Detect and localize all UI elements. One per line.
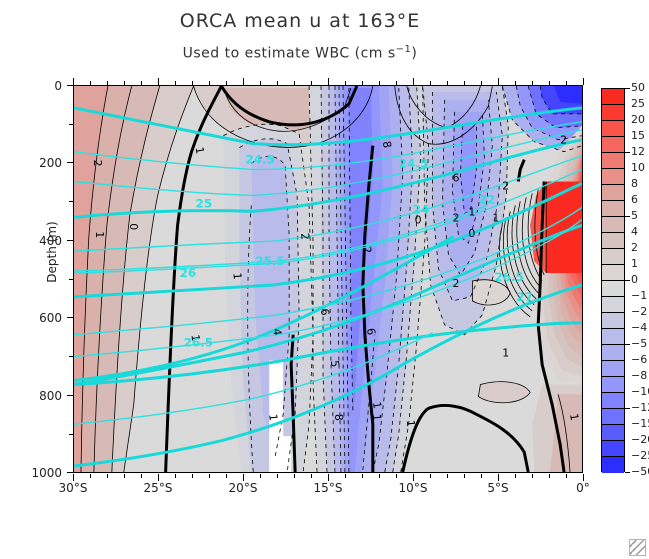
colorbar-tick-label: −1 [631,289,647,302]
x-tick-minor [549,474,550,478]
y-tick-minor [69,279,73,280]
figure-subtitle: Used to estimate WBC (cm s−1) [0,44,600,62]
colorbar-band [602,121,624,137]
colorbar-tick-label: 20 [631,113,645,126]
x-tick-label-0: 0° [553,481,613,495]
x-tick-major-top [583,78,584,85]
colorbar-tick [625,408,630,409]
x-tick-minor [141,474,142,478]
svg-text:2: 2 [453,211,460,224]
x-tick-label-5s: 5°S [468,481,528,495]
colorbar-band [602,441,624,457]
svg-text:1: 1 [266,413,280,421]
x-tick-label-15s: 15°S [298,481,358,495]
colorbar-tick-label: 4 [631,225,638,238]
colorbar-band [602,249,624,265]
x-tick-minor [566,474,567,478]
contour-plot-area: 2 1 0 1 1 2 5 6 8 4 1 8 2 6 1 6 0 [73,85,583,473]
svg-text:2: 2 [298,232,312,240]
svg-text:1: 1 [93,231,106,238]
colorbar-tick-label: −5 [631,337,647,350]
x-tick-minor-top [379,81,380,85]
colorbar-tick-label: 25 [631,97,645,110]
colorbar-tick [625,88,630,89]
x-tick-major [328,474,329,481]
x-tick-minor [447,474,448,478]
x-tick-minor [107,474,108,478]
y-tick-major [67,85,73,86]
x-tick-label-20s: 20°S [213,481,273,495]
y-axis-title: Depth (m) [45,192,59,312]
colorbar-tick [625,152,630,153]
x-tick-minor-top [260,81,261,85]
svg-text:6: 6 [318,308,332,316]
svg-text:6: 6 [453,172,460,185]
x-tick-minor-top [464,81,465,85]
subtitle-tail: ) [411,46,417,62]
y-tick-minor [69,434,73,435]
x-tick-major-top [158,78,159,85]
y-tick-major [67,317,73,318]
colorbar-band [602,409,624,425]
colorbar-tick-label: −6 [631,353,647,366]
svg-text:0: 0 [468,227,475,240]
x-tick-minor-top [107,81,108,85]
svg-text:26: 26 [180,266,197,280]
colorbar-band [602,329,624,345]
colorbar-band [602,313,624,329]
colorbar-band [602,185,624,201]
x-tick-minor [294,474,295,478]
x-tick-major [498,474,499,481]
colorbar-tick-label: 5 [631,209,638,222]
x-tick-minor [464,474,465,478]
y-tick-major [67,472,73,473]
colorbar-tick-label: 50 [631,81,645,94]
colorbar-tick-label: −10 [631,385,649,398]
svg-text:1: 1 [404,419,418,427]
colorbar-tick-label: 15 [631,129,645,142]
svg-text:0: 0 [127,223,140,230]
x-tick-minor-top [141,81,142,85]
x-tick-minor [90,474,91,478]
x-tick-major-top [328,78,329,85]
colorbar [601,88,625,472]
x-tick-minor-top [209,81,210,85]
colorbar-tick-label: 2 [631,241,638,254]
x-tick-major-top [413,78,414,85]
x-tick-minor [277,474,278,478]
colorbar-tick [625,344,630,345]
svg-text:22: 22 [478,192,495,206]
svg-text:27: 27 [516,290,533,304]
svg-text:1: 1 [370,413,384,421]
colorbar-band [602,233,624,249]
page-title: ORCA mean u at 163°E [0,10,600,32]
y-tick-major [67,395,73,396]
colorbar-band [602,105,624,121]
colorbar-band [602,217,624,233]
colorbar-tick-label: 8 [631,177,638,190]
colorbar-band [602,137,624,153]
svg-text:2: 2 [453,277,460,290]
x-tick-minor [311,474,312,478]
x-tick-minor-top [430,81,431,85]
svg-text:24.5: 24.5 [399,157,428,171]
y-tick-minor [69,201,73,202]
svg-text:5: 5 [328,360,342,368]
x-tick-minor-top [345,81,346,85]
colorbar-tick-label: 1 [631,257,638,270]
svg-text:1: 1 [502,347,509,360]
svg-text:24: 24 [413,202,430,216]
x-tick-major [413,474,414,481]
x-tick-minor-top [532,81,533,85]
colorbar-band [602,345,624,361]
colorbar-band [602,153,624,169]
resize-grip-lines [630,540,645,555]
svg-text:2: 2 [560,134,567,147]
x-tick-major-top [73,78,74,85]
x-tick-minor [532,474,533,478]
y-tick-minor [69,124,73,125]
colorbar-band [602,265,624,281]
colorbar-tick-label: −15 [631,417,649,430]
subtitle-text: Used to estimate WBC (cm s [183,46,396,62]
x-tick-minor-top [226,81,227,85]
colorbar-tick-label: −20 [631,433,649,446]
y-tick-label-400: 400 [18,234,62,248]
colorbar-band [602,281,624,297]
colorbar-band [602,425,624,441]
colorbar-band [602,297,624,313]
colorbar-band [602,169,624,185]
resize-grip-handle[interactable] [629,539,646,556]
x-tick-major-top [498,78,499,85]
x-tick-major [158,474,159,481]
x-tick-minor [260,474,261,478]
x-tick-minor-top [362,81,363,85]
colorbar-tick-label: 12 [631,145,645,158]
colorbar-band [602,89,624,105]
x-tick-minor-top [175,81,176,85]
colorbar-tick-label: 0 [631,273,638,286]
y-tick-major [67,240,73,241]
colorbar-tick-label: 6 [631,193,638,206]
x-tick-major [243,474,244,481]
x-tick-major [73,474,74,481]
svg-text:25: 25 [196,196,213,210]
svg-text:24.5: 24.5 [245,153,274,167]
colorbar-tick [625,280,630,281]
x-tick-minor-top [481,81,482,85]
x-tick-label-30s: 30°S [43,481,103,495]
y-tick-minor [69,356,73,357]
x-tick-minor [481,474,482,478]
x-tick-major [583,474,584,481]
figure-canvas: ORCA mean u at 163°E Used to estimate WB… [0,0,649,559]
x-tick-minor [362,474,363,478]
x-tick-label-25s: 25°S [128,481,188,495]
colorbar-tick-label: −2 [631,305,647,318]
x-tick-minor-top [124,81,125,85]
svg-text:2: 2 [91,160,104,167]
svg-text:1: 1 [492,211,499,224]
colorbar-tick-label: −4 [631,321,647,334]
x-tick-minor-top [396,81,397,85]
x-tick-minor [515,474,516,478]
x-tick-minor [379,474,380,478]
y-tick-major [67,162,73,163]
x-tick-minor [124,474,125,478]
x-tick-minor [396,474,397,478]
velocity-section-contours: 2 1 0 1 1 2 5 6 8 4 1 8 2 6 1 6 0 [74,86,582,472]
colorbar-tick-label: −12 [631,401,649,414]
y-tick-label-600: 600 [18,311,62,325]
colorbar-tick-label: −25 [631,449,649,462]
y-tick-label-1000: 1000 [18,466,62,480]
x-tick-major-top [243,78,244,85]
x-tick-minor-top [192,81,193,85]
x-tick-minor-top [549,81,550,85]
colorbar-band [602,201,624,217]
colorbar-tick [625,216,630,217]
y-tick-label-800: 800 [18,389,62,403]
x-tick-minor [209,474,210,478]
colorbar-band [602,393,624,409]
x-tick-minor-top [566,81,567,85]
x-tick-minor [226,474,227,478]
colorbar-band [602,377,624,393]
x-tick-minor [175,474,176,478]
x-tick-minor [192,474,193,478]
colorbar-tick [625,472,630,473]
y-tick-label-200: 200 [18,156,62,170]
svg-text:1: 1 [230,272,244,280]
x-tick-minor-top [294,81,295,85]
x-tick-minor-top [90,81,91,85]
subtitle-exponent: −1 [396,44,412,55]
colorbar-band [602,361,624,377]
x-tick-minor [430,474,431,478]
svg-text:26.5: 26.5 [184,336,213,350]
svg-text:26.5: 26.5 [494,270,523,284]
svg-text:8: 8 [332,413,346,421]
svg-text:25.5: 25.5 [255,254,284,268]
x-tick-minor-top [447,81,448,85]
x-tick-minor-top [311,81,312,85]
x-tick-minor-top [515,81,516,85]
svg-text:4: 4 [270,328,284,336]
colorbar-tick-label: 10 [631,161,645,174]
colorbar-tick-label: −50 [631,465,649,478]
svg-text:1: 1 [468,205,475,218]
svg-text:2: 2 [502,179,509,192]
colorbar-tick-label: −8 [631,369,647,382]
x-tick-label-10s: 10°S [383,481,443,495]
x-tick-minor-top [277,81,278,85]
x-tick-minor [345,474,346,478]
y-tick-label-0: 0 [18,79,62,93]
colorbar-band [602,457,624,473]
